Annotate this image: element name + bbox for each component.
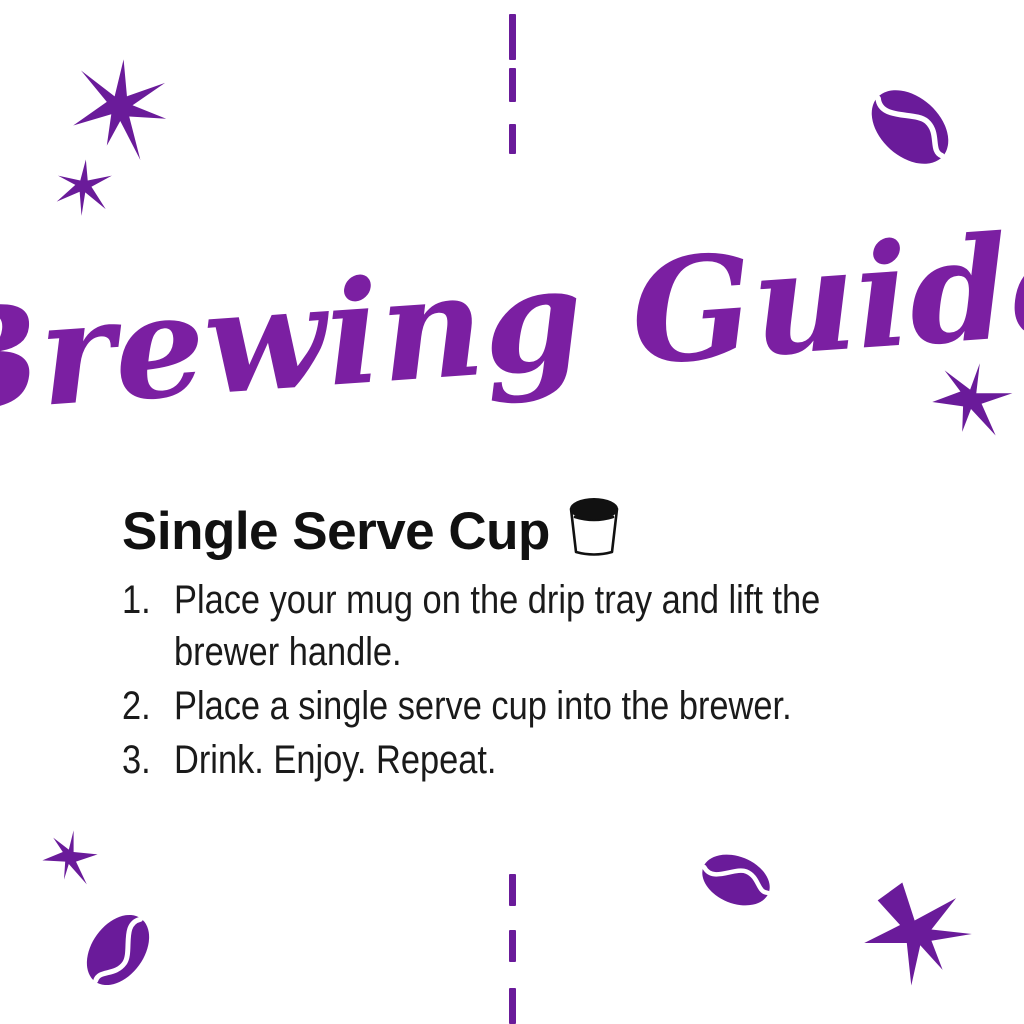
star-top-left-small-icon [53, 157, 115, 219]
coffee-bean-top-right-icon [855, 72, 965, 182]
dashed-divider-top [0, 0, 1024, 160]
dashed-divider-bottom [0, 860, 1024, 1024]
dash-mark [509, 14, 516, 60]
list-item: 3. Drink. Enjoy. Repeat. [122, 734, 952, 786]
dash-mark [509, 68, 516, 102]
coffee-bean-bottom-left-icon [68, 900, 168, 1000]
page-title-text: Brewing Guide [0, 212, 1024, 442]
dash-mark [509, 124, 516, 154]
step-text: Place a single serve cup into the brewer… [174, 680, 843, 732]
list-item: 1. Place your mug on the drip tray and l… [122, 574, 952, 678]
dash-mark [509, 988, 516, 1024]
dash-mark [509, 930, 516, 962]
step-number: 1. [122, 574, 167, 626]
section-heading-label: Single Serve Cup [122, 504, 550, 560]
k-cup-icon [564, 496, 624, 558]
steps-list: 1. Place your mug on the drip tray and l… [122, 574, 952, 786]
step-number: 3. [122, 734, 167, 786]
section-heading: Single Serve Cup [122, 494, 952, 560]
step-text: Place your mug on the drip tray and lift… [174, 574, 843, 678]
star-top-left-large-icon [62, 56, 174, 168]
step-number: 2. [122, 680, 167, 732]
page-title: Brewing Guide [0, 212, 1024, 442]
coffee-bean-bottom-right-icon [688, 835, 784, 925]
brewing-guide-card: Brewing Guide Single Serve Cup 1. Place … [0, 0, 1024, 1024]
instructions-section: Single Serve Cup 1. Place your mug on th… [122, 494, 952, 788]
step-text: Drink. Enjoy. Repeat. [174, 734, 843, 786]
dash-mark [509, 874, 516, 906]
list-item: 2. Place a single serve cup into the bre… [122, 680, 952, 732]
star-bottom-left-small-icon [38, 828, 102, 888]
star-bottom-right-large-icon [858, 878, 978, 990]
